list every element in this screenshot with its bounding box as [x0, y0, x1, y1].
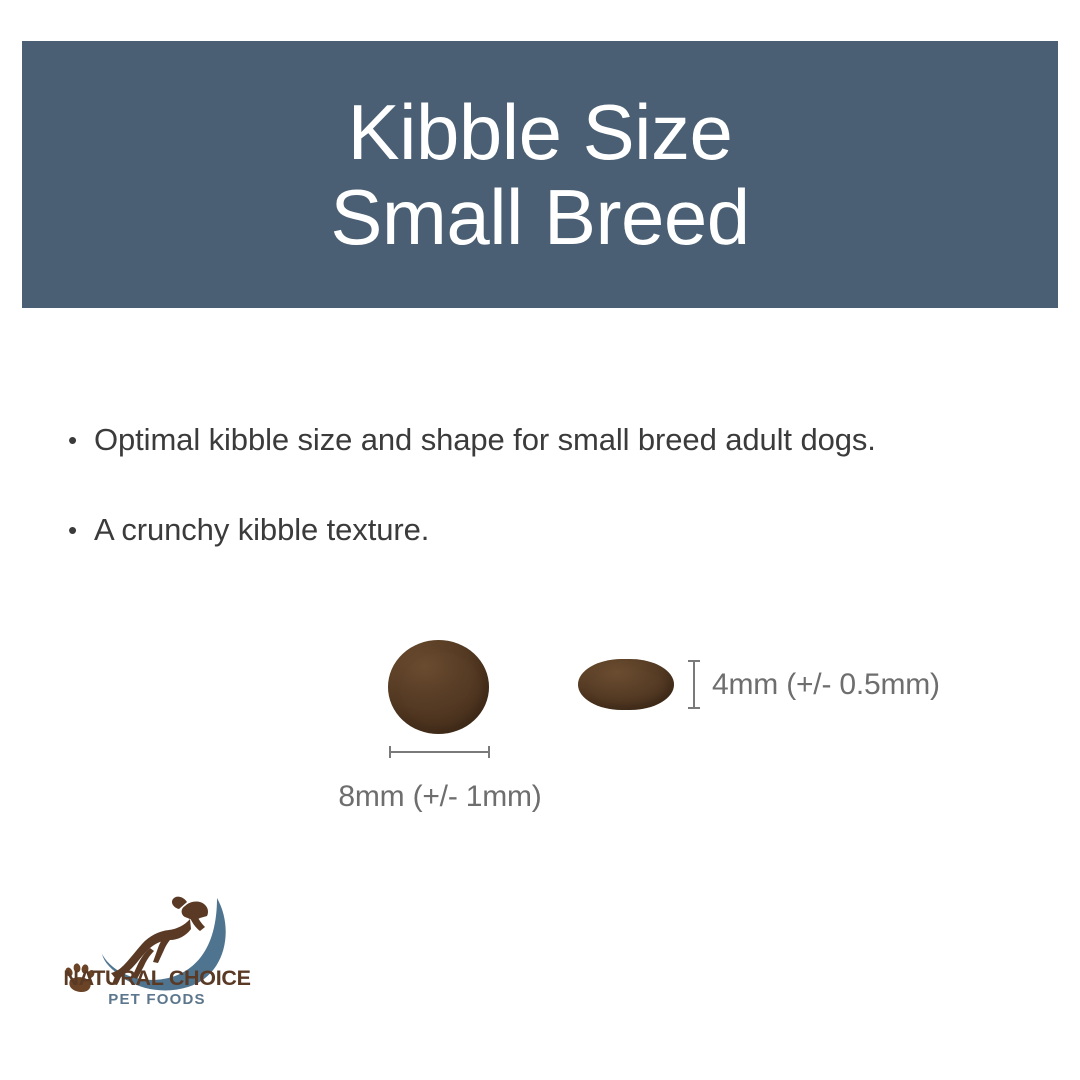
kibble-thickness-label: 4mm (+/- 0.5mm) — [712, 668, 940, 702]
page-title-line-2: Small Breed — [330, 177, 749, 257]
bullet-dot-icon: • — [68, 418, 94, 462]
kibble-top-view-shape — [388, 640, 489, 734]
kibble-size-diagram: 4mm (+/- 0.5mm) 8mm (+/- 1mm) — [0, 618, 1080, 838]
bullet-dot-icon: • — [68, 508, 94, 552]
kibble-diameter-label: 8mm (+/- 1mm) — [330, 780, 550, 814]
kibble-side-view-shape — [578, 659, 674, 710]
list-item: • Optimal kibble size and shape for smal… — [68, 418, 1038, 462]
kibble-size-infographic: Kibble Size Small Breed • Optimal kibble… — [0, 0, 1080, 1080]
brand-logo: NATURAL CHOICE PET FOODS — [57, 884, 257, 1014]
feature-bullet-list: • Optimal kibble size and shape for smal… — [68, 418, 1038, 598]
list-item-label: A crunchy kibble texture. — [94, 508, 429, 552]
horizontal-dimension-line-icon — [389, 746, 490, 758]
logo-text: NATURAL CHOICE PET FOODS — [57, 966, 257, 1010]
vertical-dimension-line-icon — [688, 660, 700, 709]
page-title-line-1: Kibble Size — [348, 92, 733, 172]
list-item-label: Optimal kibble size and shape for small … — [94, 418, 876, 462]
logo-tagline: PET FOODS — [57, 990, 257, 1010]
list-item: • A crunchy kibble texture. — [68, 508, 1038, 552]
header-banner: Kibble Size Small Breed — [22, 41, 1058, 308]
logo-brand-name: NATURAL CHOICE — [57, 966, 257, 990]
